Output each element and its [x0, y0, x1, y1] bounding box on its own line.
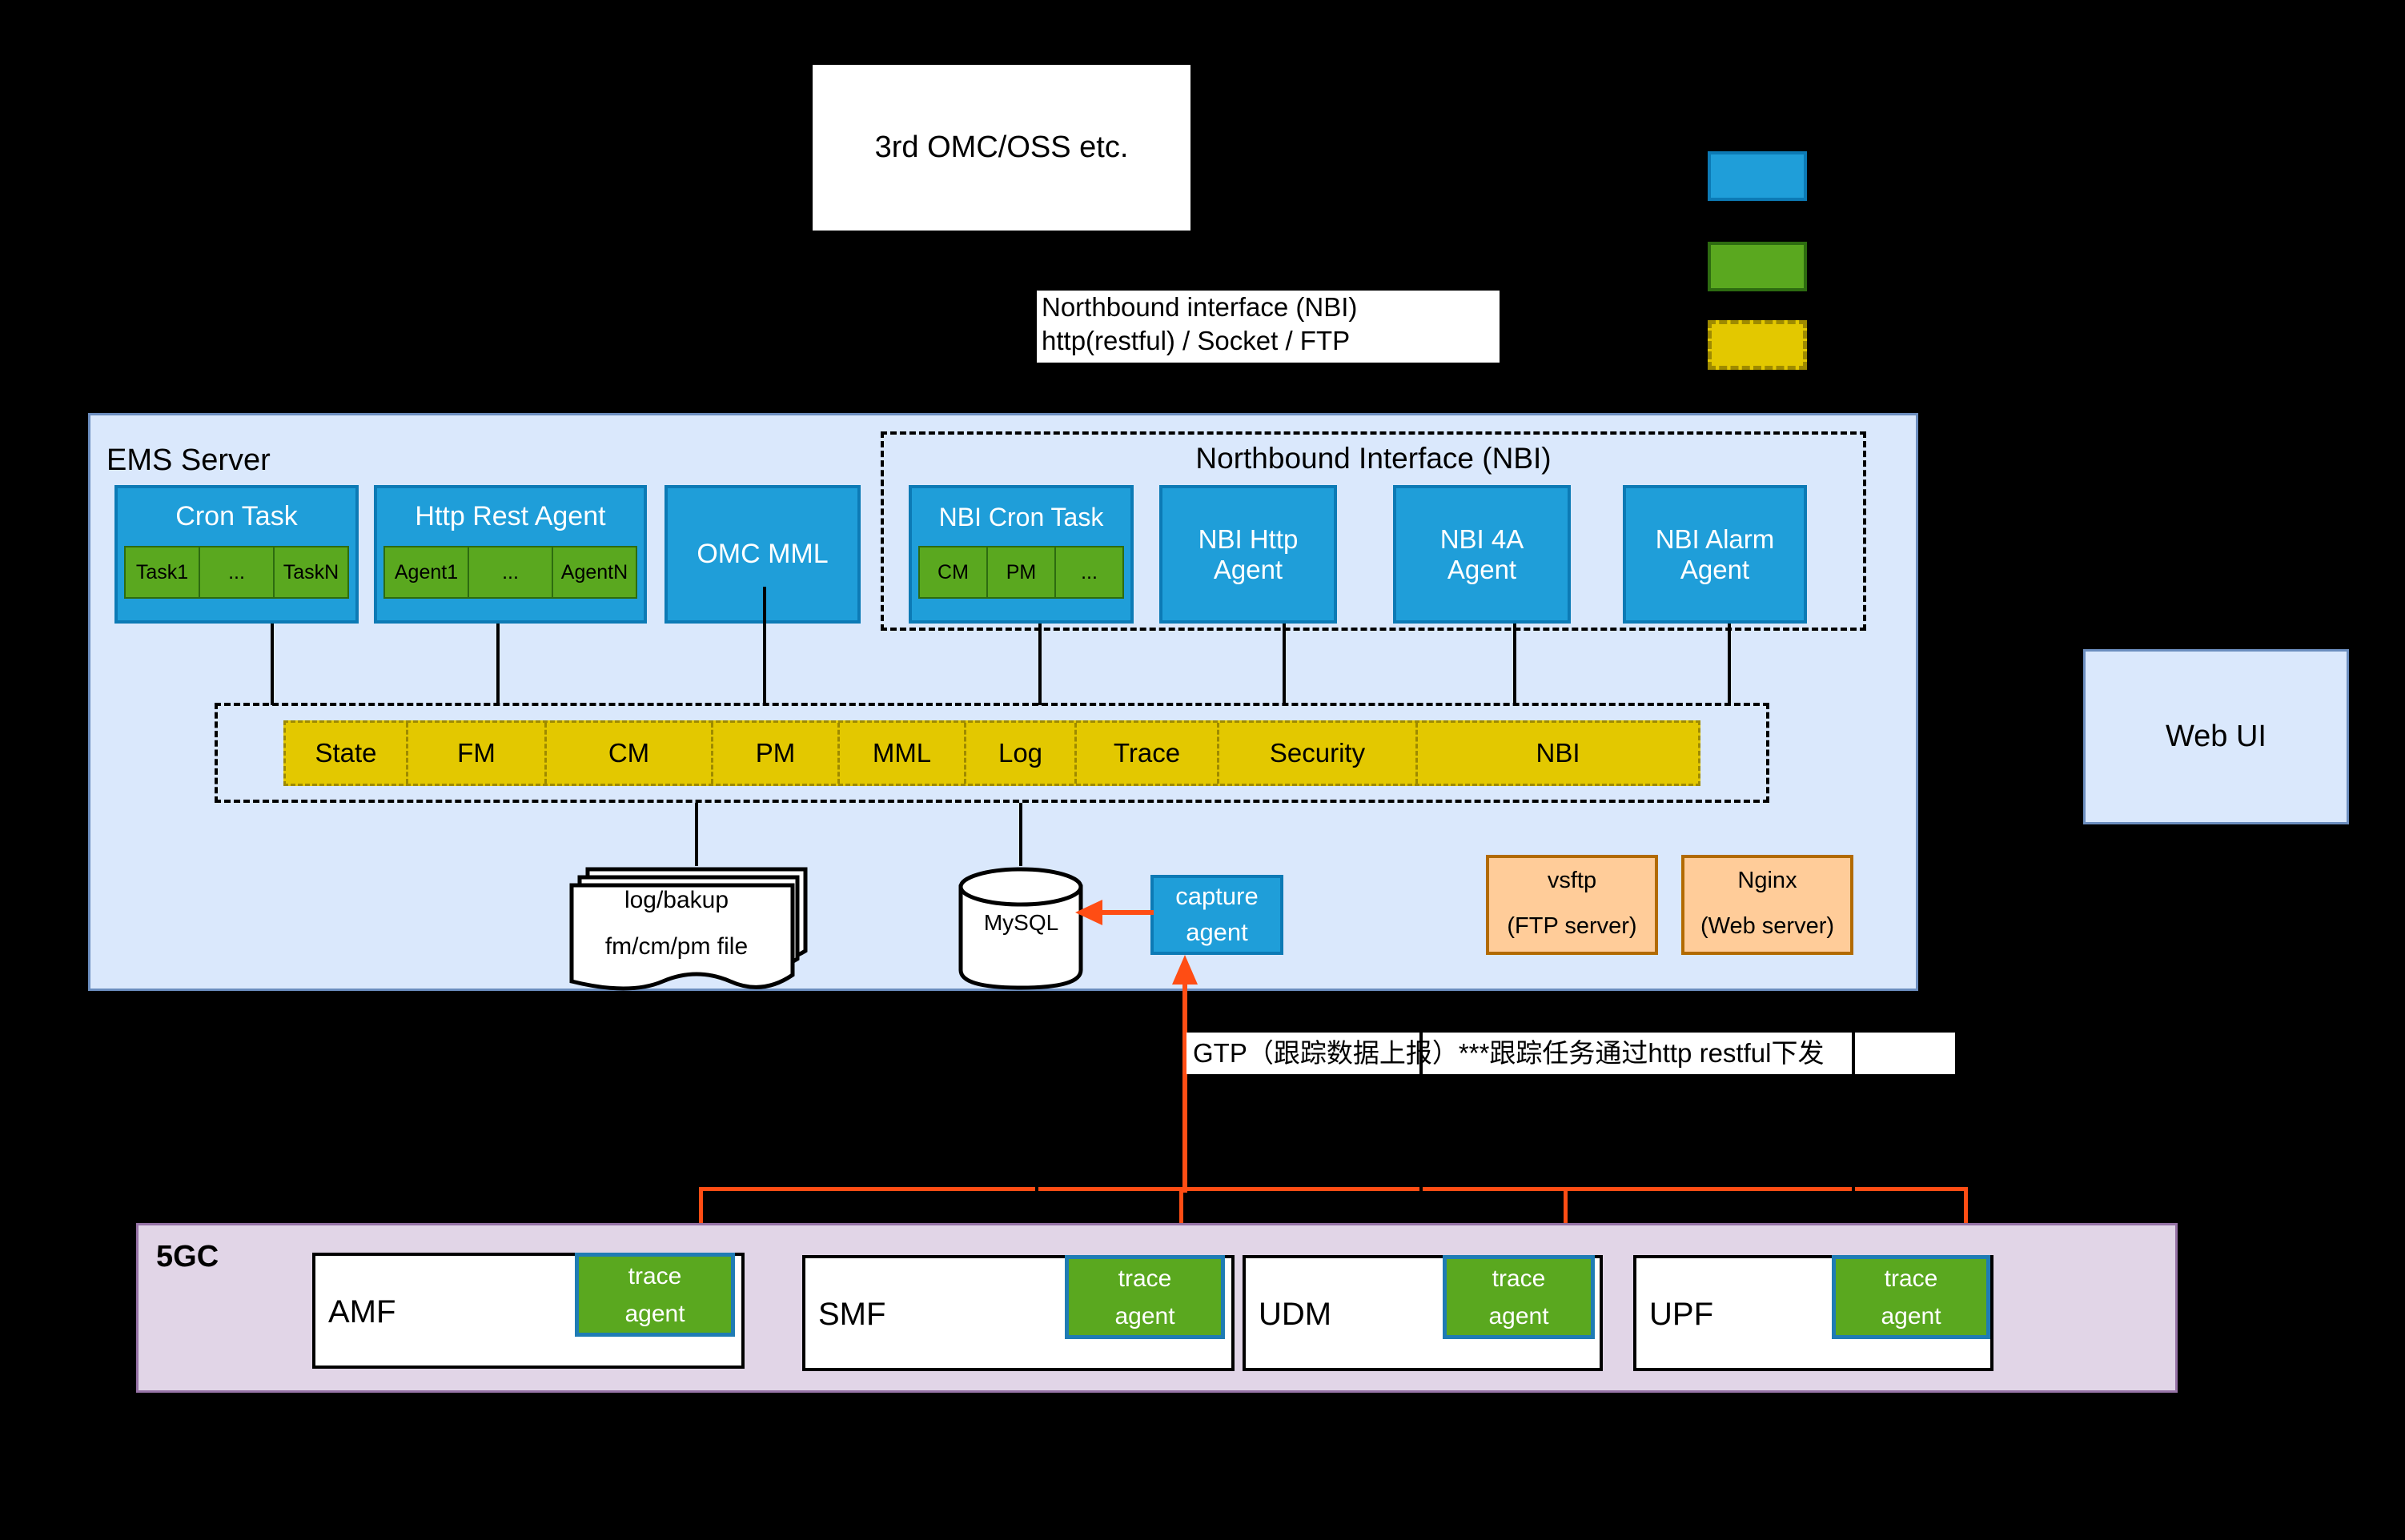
web-ui-label: Web UI: [2166, 720, 2266, 755]
service-item-security[interactable]: Security: [1219, 723, 1418, 784]
service-item-pm[interactable]: PM: [713, 723, 840, 784]
trace-agent-smf-line2: agent: [1069, 1299, 1221, 1335]
service-bus: State FM CM PM MML Log Trace Security NB…: [283, 720, 1700, 786]
connector-nbi-alarm-agent-to-bus: [1728, 624, 1731, 705]
http-rest-agent-cell: Agent1: [385, 547, 469, 597]
nbi-protocol-line2: http(restful) / Socket / FTP: [1037, 324, 1500, 358]
connector-nbi-http-agent-to-bus: [1283, 624, 1286, 705]
trace-agent-upf[interactable]: trace agent: [1832, 1255, 1990, 1339]
component-cron-task[interactable]: Cron Task Task1 ... TaskN: [114, 485, 359, 624]
trace-agent-udm-line1: trace: [1447, 1259, 1591, 1299]
orange-riser-to-bus: [1182, 1121, 1186, 1189]
network-function-upf-label: UPF: [1649, 1297, 1713, 1333]
file-store-line2: fm/cm/pm file: [560, 931, 793, 963]
nbi-group-title: Northbound Interface (NBI): [881, 439, 1866, 479]
connector-nbi-cron-task-to-bus: [1038, 624, 1042, 705]
component-nbi-alarm-agent[interactable]: NBI Alarm Agent: [1623, 485, 1807, 624]
network-function-udm-label: UDM: [1259, 1297, 1331, 1333]
arrow-capture-to-database: [1070, 896, 1155, 928]
server-nginx-line1: Nginx: [1684, 858, 1850, 904]
component-nbi-alarm-agent-label: NBI Alarm Agent: [1656, 524, 1775, 585]
service-item-fm[interactable]: FM: [408, 723, 547, 784]
component-omc-mml-label: OMC MML: [697, 539, 828, 570]
trace-agent-amf-line1: trace: [579, 1257, 731, 1297]
service-item-trace[interactable]: Trace: [1077, 723, 1219, 784]
cron-task-cell: Task1: [126, 547, 200, 597]
component-nbi-4a-agent-label: NBI 4A Agent: [1440, 524, 1524, 585]
component-nbi-cron-task-label: NBI Cron Task: [912, 488, 1130, 546]
server-vsftp-line1: vsftp: [1489, 858, 1655, 904]
core-network-title: 5GC: [156, 1240, 219, 1274]
nbi-cron-task-cells: CM PM ...: [918, 546, 1124, 599]
orange-bus-horizontal: [699, 1187, 1968, 1191]
cron-task-cell: ...: [200, 547, 275, 597]
legend-swatch-blue: [1708, 151, 1807, 201]
trace-agent-amf[interactable]: trace agent: [575, 1253, 735, 1337]
service-item-mml[interactable]: MML: [840, 723, 966, 784]
web-ui-box[interactable]: Web UI: [2083, 649, 2349, 824]
service-item-log[interactable]: Log: [966, 723, 1077, 784]
capture-agent-line1: capture: [1154, 878, 1280, 915]
service-item-nbi[interactable]: NBI: [1418, 723, 1698, 784]
component-http-rest-agent-label: Http Rest Agent: [377, 488, 644, 546]
server-vsftp-line2: (FTP server): [1489, 904, 1655, 948]
ems-server-title: EMS Server: [106, 443, 271, 478]
http-rest-agent-cell: ...: [469, 547, 553, 597]
connector-oss-to-ems: [1000, 231, 1003, 416]
component-nbi-http-agent-label: NBI Http Agent: [1198, 524, 1299, 585]
capture-agent-line2: agent: [1154, 915, 1280, 950]
service-item-cm[interactable]: CM: [547, 723, 713, 784]
trace-agent-udm-line2: agent: [1447, 1299, 1591, 1335]
connector-omc-mml-to-bus: [763, 587, 766, 705]
file-store-line1: log/bakup: [560, 884, 793, 916]
third-party-omc-oss-label: 3rd OMC/OSS etc.: [875, 130, 1129, 166]
connector-cron-task-to-bus: [271, 624, 274, 705]
server-nginx-line2: (Web server): [1684, 904, 1850, 948]
component-http-rest-agent[interactable]: Http Rest Agent Agent1 ... AgentN: [374, 485, 647, 624]
connector-http-rest-agent-to-bus: [496, 624, 500, 705]
third-party-omc-oss-box: 3rd OMC/OSS etc.: [812, 64, 1191, 231]
capture-agent-box[interactable]: capture agent: [1150, 875, 1283, 955]
nbi-protocol-note: Northbound interface (NBI) http(restful)…: [1037, 291, 1500, 363]
component-nbi-cron-task[interactable]: NBI Cron Task CM PM ...: [909, 485, 1134, 624]
trace-agent-smf-line1: trace: [1069, 1259, 1221, 1299]
trace-agent-amf-line2: agent: [579, 1297, 731, 1333]
trace-agent-upf-line2: agent: [1836, 1299, 1986, 1335]
nbi-cron-task-cell: CM: [920, 547, 988, 597]
connector-nbi-4a-agent-to-bus: [1513, 624, 1516, 705]
nbi-cron-task-cell: ...: [1056, 547, 1122, 597]
trace-agent-udm[interactable]: trace agent: [1443, 1255, 1595, 1339]
component-cron-task-label: Cron Task: [118, 488, 355, 546]
legend-swatch-yellow: [1708, 320, 1807, 370]
cron-task-cell: TaskN: [275, 547, 347, 597]
component-nbi-http-agent[interactable]: NBI Http Agent: [1159, 485, 1337, 624]
network-function-smf-label: SMF: [818, 1297, 885, 1333]
trace-agent-upf-line1: trace: [1836, 1259, 1986, 1299]
http-rest-agent-cell: AgentN: [553, 547, 636, 597]
service-item-state[interactable]: State: [286, 723, 408, 784]
component-nbi-4a-agent[interactable]: NBI 4A Agent: [1393, 485, 1571, 624]
trace-agent-smf[interactable]: trace agent: [1065, 1255, 1225, 1339]
server-vsftp-box[interactable]: vsftp (FTP server): [1486, 855, 1658, 955]
legend-swatch-green: [1708, 242, 1807, 291]
cron-task-cells: Task1 ... TaskN: [124, 546, 349, 599]
nbi-cron-task-cell: PM: [988, 547, 1056, 597]
server-nginx-box[interactable]: Nginx (Web server): [1681, 855, 1853, 955]
connector-bus-to-database: [1019, 803, 1022, 866]
gtp-note-text: GTP（跟踪数据上报）***跟踪任务通过http restful下发: [1193, 1038, 1824, 1069]
network-function-amf-label: AMF: [328, 1294, 395, 1330]
http-rest-agent-cells: Agent1 ... AgentN: [383, 546, 637, 599]
diagram-canvas: 3rd OMC/OSS etc. Northbound interface (N…: [0, 0, 2405, 1540]
gtp-note: GTP（跟踪数据上报）***跟踪任务通过http restful下发: [1186, 1033, 1955, 1074]
nbi-protocol-line1: Northbound interface (NBI): [1037, 291, 1500, 324]
